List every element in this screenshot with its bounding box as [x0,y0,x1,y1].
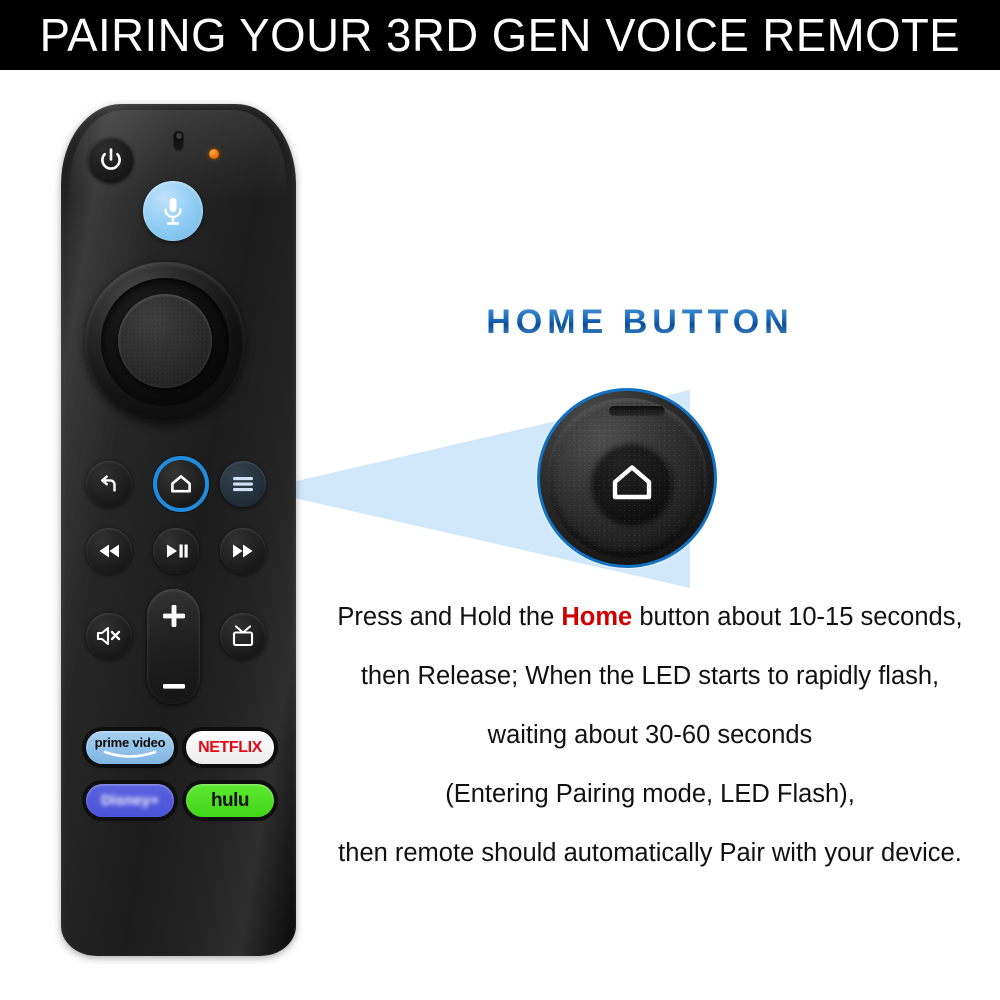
hulu-button[interactable]: hulu [186,784,274,817]
prime-video-button[interactable]: prime video [86,731,174,764]
microphone-icon [160,195,186,227]
page-title: PAIRING YOUR 3RD GEN VOICE REMOTE [40,8,961,62]
volume-rocker[interactable] [147,589,200,704]
netflix-label: NETFLIX [198,739,262,757]
magnified-ring-notch [609,406,665,416]
volume-up-plus-icon[interactable] [160,602,188,630]
netflix-button[interactable]: NETFLIX [186,731,274,764]
instruction-line-4: (Entering Pairing mode, LED Flash), [300,765,1000,824]
home-button-magnifier [537,388,717,568]
navigation-dpad[interactable] [85,262,245,422]
instruction-line-5: then remote should automatically Pair wi… [300,824,1000,883]
prime-smile-icon [103,750,157,759]
fast-forward-icon [230,543,256,559]
back-arrow-icon [97,472,121,496]
home-icon [169,473,193,495]
microphone-hole [173,130,184,151]
back-button[interactable] [86,461,132,507]
tv-button[interactable] [220,613,266,659]
instruction-line-1-b: button about 10-15 seconds, [632,603,962,631]
home-button-heading: HOME BUTTON [470,303,810,342]
rewind-button[interactable] [86,528,132,574]
menu-button[interactable] [220,461,266,507]
hamburger-menu-icon [230,475,256,493]
speaker-mute-icon [95,625,123,647]
dpad-select-button[interactable] [118,294,212,388]
title-banner: PAIRING YOUR 3RD GEN VOICE REMOTE [0,0,1000,70]
instruction-line-3: waiting about 30-60 seconds [300,706,1000,765]
volume-down-minus-icon[interactable] [160,682,188,690]
instruction-line-1: Press and Hold the Home button about 10-… [300,588,1000,647]
magnified-home-button [592,443,672,523]
hulu-label: hulu [211,790,249,812]
instruction-line-1-a: Press and Hold the [337,603,561,631]
home-keyword: Home [561,603,632,631]
play-pause-icon [163,543,189,559]
power-icon [98,147,124,173]
product-instruction-image: PAIRING YOUR 3RD GEN VOICE REMOTE [0,0,1000,1000]
mute-button[interactable] [86,613,132,659]
status-led [209,149,219,159]
tv-icon [230,624,256,648]
home-button[interactable] [153,456,209,512]
play-pause-button[interactable] [153,528,199,574]
rewind-icon [96,543,122,559]
home-icon [609,462,655,504]
voice-remote: prime video NETFLIX Disney+ hulu [61,104,296,956]
fast-forward-button[interactable] [220,528,266,574]
voice-button[interactable] [143,181,203,241]
magnified-dpad-ring [547,398,707,558]
power-button[interactable] [88,137,134,183]
pairing-instructions: Press and Hold the Home button about 10-… [300,588,1000,883]
prime-video-label: prime video [95,736,166,749]
instruction-line-2: then Release; When the LED starts to rap… [300,647,1000,706]
disney-plus-button[interactable]: Disney+ [86,784,174,817]
disney-plus-label: Disney+ [101,792,159,809]
